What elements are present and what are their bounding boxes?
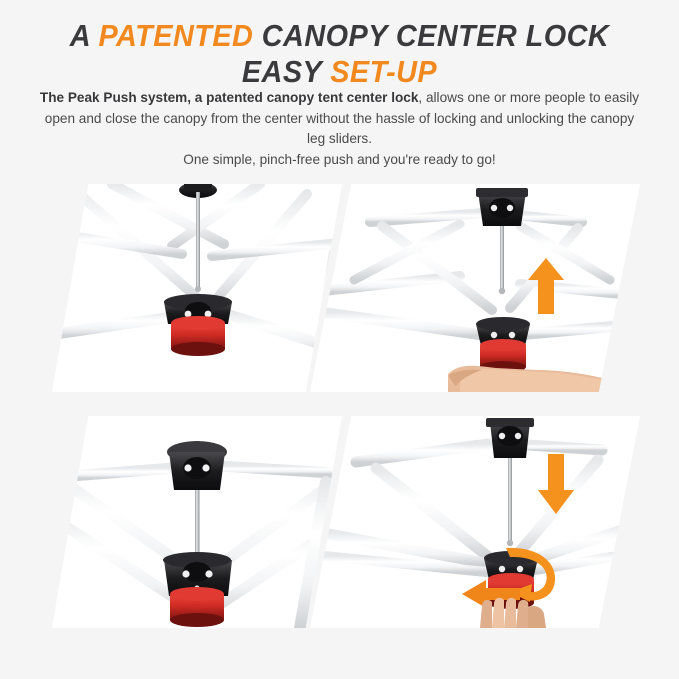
panel-bottom-right-illustration [310,416,640,628]
headline-word-easy: EASY [242,54,330,89]
panel-top-right-illustration [310,184,640,392]
push-rod-top-left [196,192,200,288]
panel-top-left [52,184,342,392]
infographic-page: A PATENTED CANOPY CENTER LOCK EASY SET-U… [0,0,679,679]
headline-line-2: EASY SET-UP [24,54,655,90]
headline-word-canopy-center-lock: CANOPY CENTER LOCK [253,18,609,53]
headline-line-1: A PATENTED CANOPY CENTER LOCK [24,18,655,54]
red-base-bottom-left [170,587,224,627]
push-rod-bottom-left [195,490,200,562]
headline-word-patented: PATENTED [98,18,253,53]
panel-top-left-illustration [52,184,342,392]
panel-grid [0,176,679,646]
upper-hub-top-right [476,188,528,226]
body-paragraph: The Peak Push system, a patented canopy … [36,88,643,150]
body-closing: One simple, pinch-free push and you're r… [36,150,643,171]
panel-bottom-left [52,416,342,628]
red-base-top-left [171,316,225,356]
headline-block: A PATENTED CANOPY CENTER LOCK EASY SET-U… [0,18,679,90]
panel-bottom-left-illustration [52,416,342,628]
panel-bottom-right [310,416,640,628]
panel-top-right [310,184,640,392]
headline-word-a: A [70,18,99,53]
push-rod-top-right [500,226,504,290]
body-bold-lead: The Peak Push system, a patented canopy … [40,90,419,105]
push-rod-bottom-right [508,458,512,542]
body-copy: The Peak Push system, a patented canopy … [36,88,643,170]
headline-word-setup: SET-UP [330,54,437,89]
upper-hub-bottom-left [167,441,227,490]
